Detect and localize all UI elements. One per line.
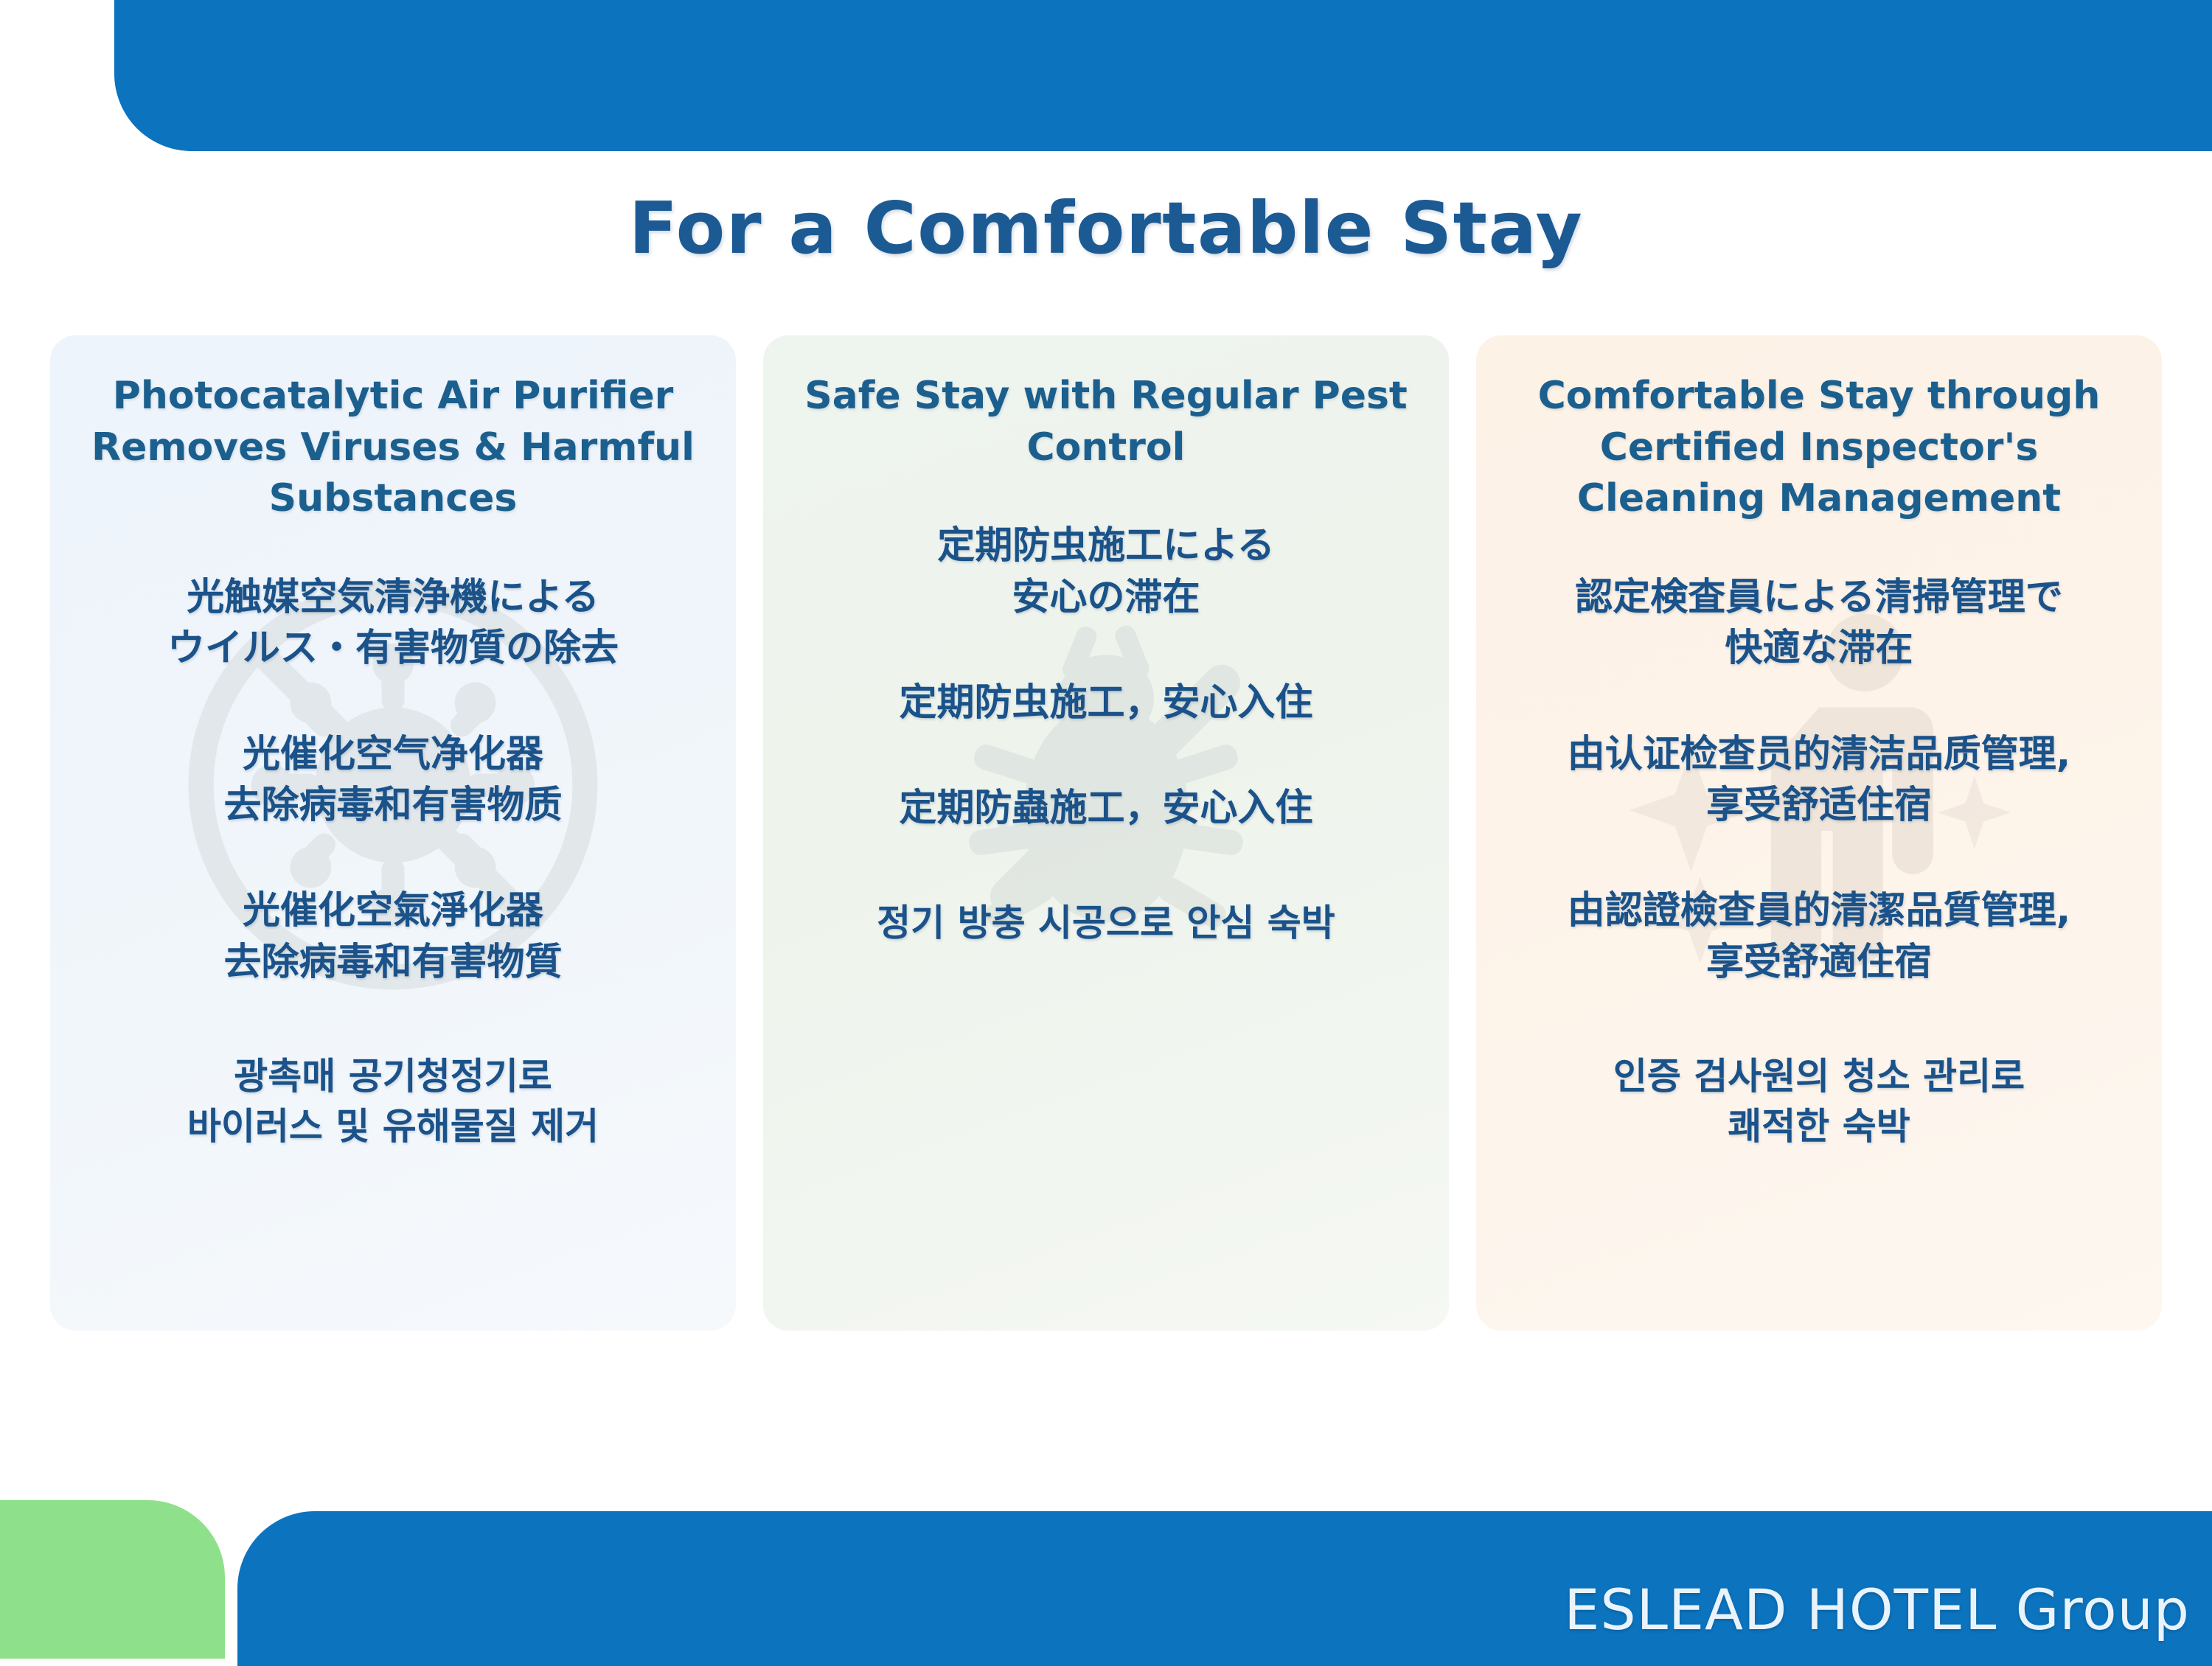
card-text-chinese-traditional: 定期防蟲施工，安心入住 — [788, 783, 1424, 834]
card-text-korean: 정기 방충 시공으로 안심 숙박 — [788, 898, 1424, 948]
top-banner — [114, 0, 2212, 151]
feature-cards-row: Photocatalytic Air Purifier Removes Viru… — [0, 335, 2212, 1331]
feature-card-cleaning-management: Comfortable Stay through Certified Inspe… — [1476, 335, 2162, 1331]
card-text-japanese: 認定検査員による清掃管理で 快適な滞在 — [1501, 572, 2137, 675]
card-text-japanese: 定期防虫施工による 安心の滞在 — [788, 520, 1424, 623]
card-heading: Safe Stay with Regular Pest Control — [788, 371, 1424, 473]
card-text-korean: 인증 검사원의 청소 관리로 쾌적한 숙박 — [1501, 1051, 2137, 1151]
card-text-chinese-traditional: 由認證檢查員的清潔品質管理, 享受舒適住宿 — [1501, 885, 2137, 988]
card-text-chinese-simplified: 定期防虫施工，安心入住 — [788, 677, 1424, 728]
feature-card-air-purifier: Photocatalytic Air Purifier Removes Viru… — [50, 335, 736, 1331]
footer-green-accent — [0, 1500, 225, 1659]
card-heading: Photocatalytic Air Purifier Removes Viru… — [75, 371, 711, 525]
card-text-chinese-simplified: 光催化空气净化器 去除病毒和有害物质 — [75, 729, 711, 832]
feature-card-pest-control: Safe Stay with Regular Pest Control 定期防虫… — [763, 335, 1449, 1331]
footer-banner: ESLEAD HOTEL Group — [237, 1511, 2212, 1666]
card-content: Comfortable Stay through Certified Inspe… — [1501, 371, 2137, 1151]
page-title: For a Comfortable Stay — [0, 190, 2212, 268]
card-content: Photocatalytic Air Purifier Removes Viru… — [75, 371, 711, 1151]
card-heading: Comfortable Stay through Certified Inspe… — [1501, 371, 2137, 525]
card-text-korean: 광촉매 공기청정기로 바이러스 및 유해물질 제거 — [75, 1051, 711, 1151]
card-text-chinese-simplified: 由认证检查员的清洁品质管理, 享受舒适住宿 — [1501, 729, 2137, 832]
brand-name: ESLEAD HOTEL Group — [1564, 1582, 2190, 1638]
card-text-japanese: 光触媒空気清浄機による ウイルス・有害物質の除去 — [75, 572, 711, 675]
card-text-chinese-traditional: 光催化空氣淨化器 去除病毒和有害物質 — [75, 885, 711, 988]
card-content: Safe Stay with Regular Pest Control 定期防虫… — [788, 371, 1424, 948]
